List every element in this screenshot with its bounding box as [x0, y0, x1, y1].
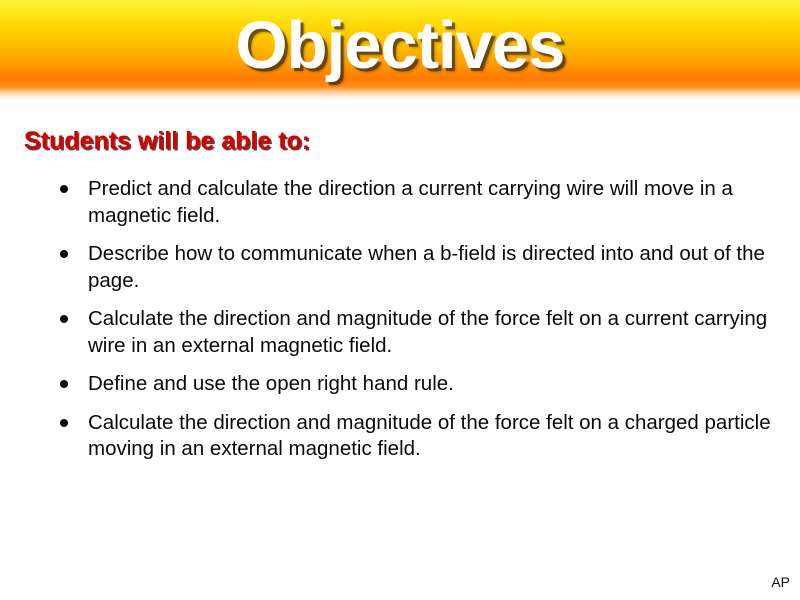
- title-banner: Objectives: [0, 0, 800, 101]
- bullet-dot-icon: [60, 250, 68, 258]
- list-item: Predict and calculate the direction a cu…: [52, 176, 774, 229]
- objectives-list: Predict and calculate the direction a cu…: [52, 176, 774, 463]
- list-item: Describe how to communicate when a b-fie…: [52, 241, 774, 294]
- slide: Objectives Students will be able to: Pre…: [0, 0, 800, 600]
- list-item: Calculate the direction and magnitude of…: [52, 306, 774, 359]
- bullet-dot-icon: [60, 380, 68, 388]
- page-title: Objectives: [0, 8, 800, 84]
- list-item-label: Predict and calculate the direction a cu…: [88, 176, 774, 229]
- footer-mark: AP: [771, 574, 790, 590]
- list-item-label: Calculate the direction and magnitude of…: [88, 306, 774, 359]
- list-item-label: Describe how to communicate when a b-fie…: [88, 241, 774, 294]
- list-item: Define and use the open right hand rule.: [52, 371, 774, 398]
- subtitle-students-will-be-able-to: Students will be able to:: [24, 126, 310, 156]
- list-item-label: Define and use the open right hand rule.: [88, 371, 774, 398]
- list-item-label: Calculate the direction and magnitude of…: [88, 410, 774, 463]
- bullet-dot-icon: [60, 419, 68, 427]
- bullet-dot-icon: [60, 315, 68, 323]
- bullet-dot-icon: [60, 185, 68, 193]
- list-item: Calculate the direction and magnitude of…: [52, 410, 774, 463]
